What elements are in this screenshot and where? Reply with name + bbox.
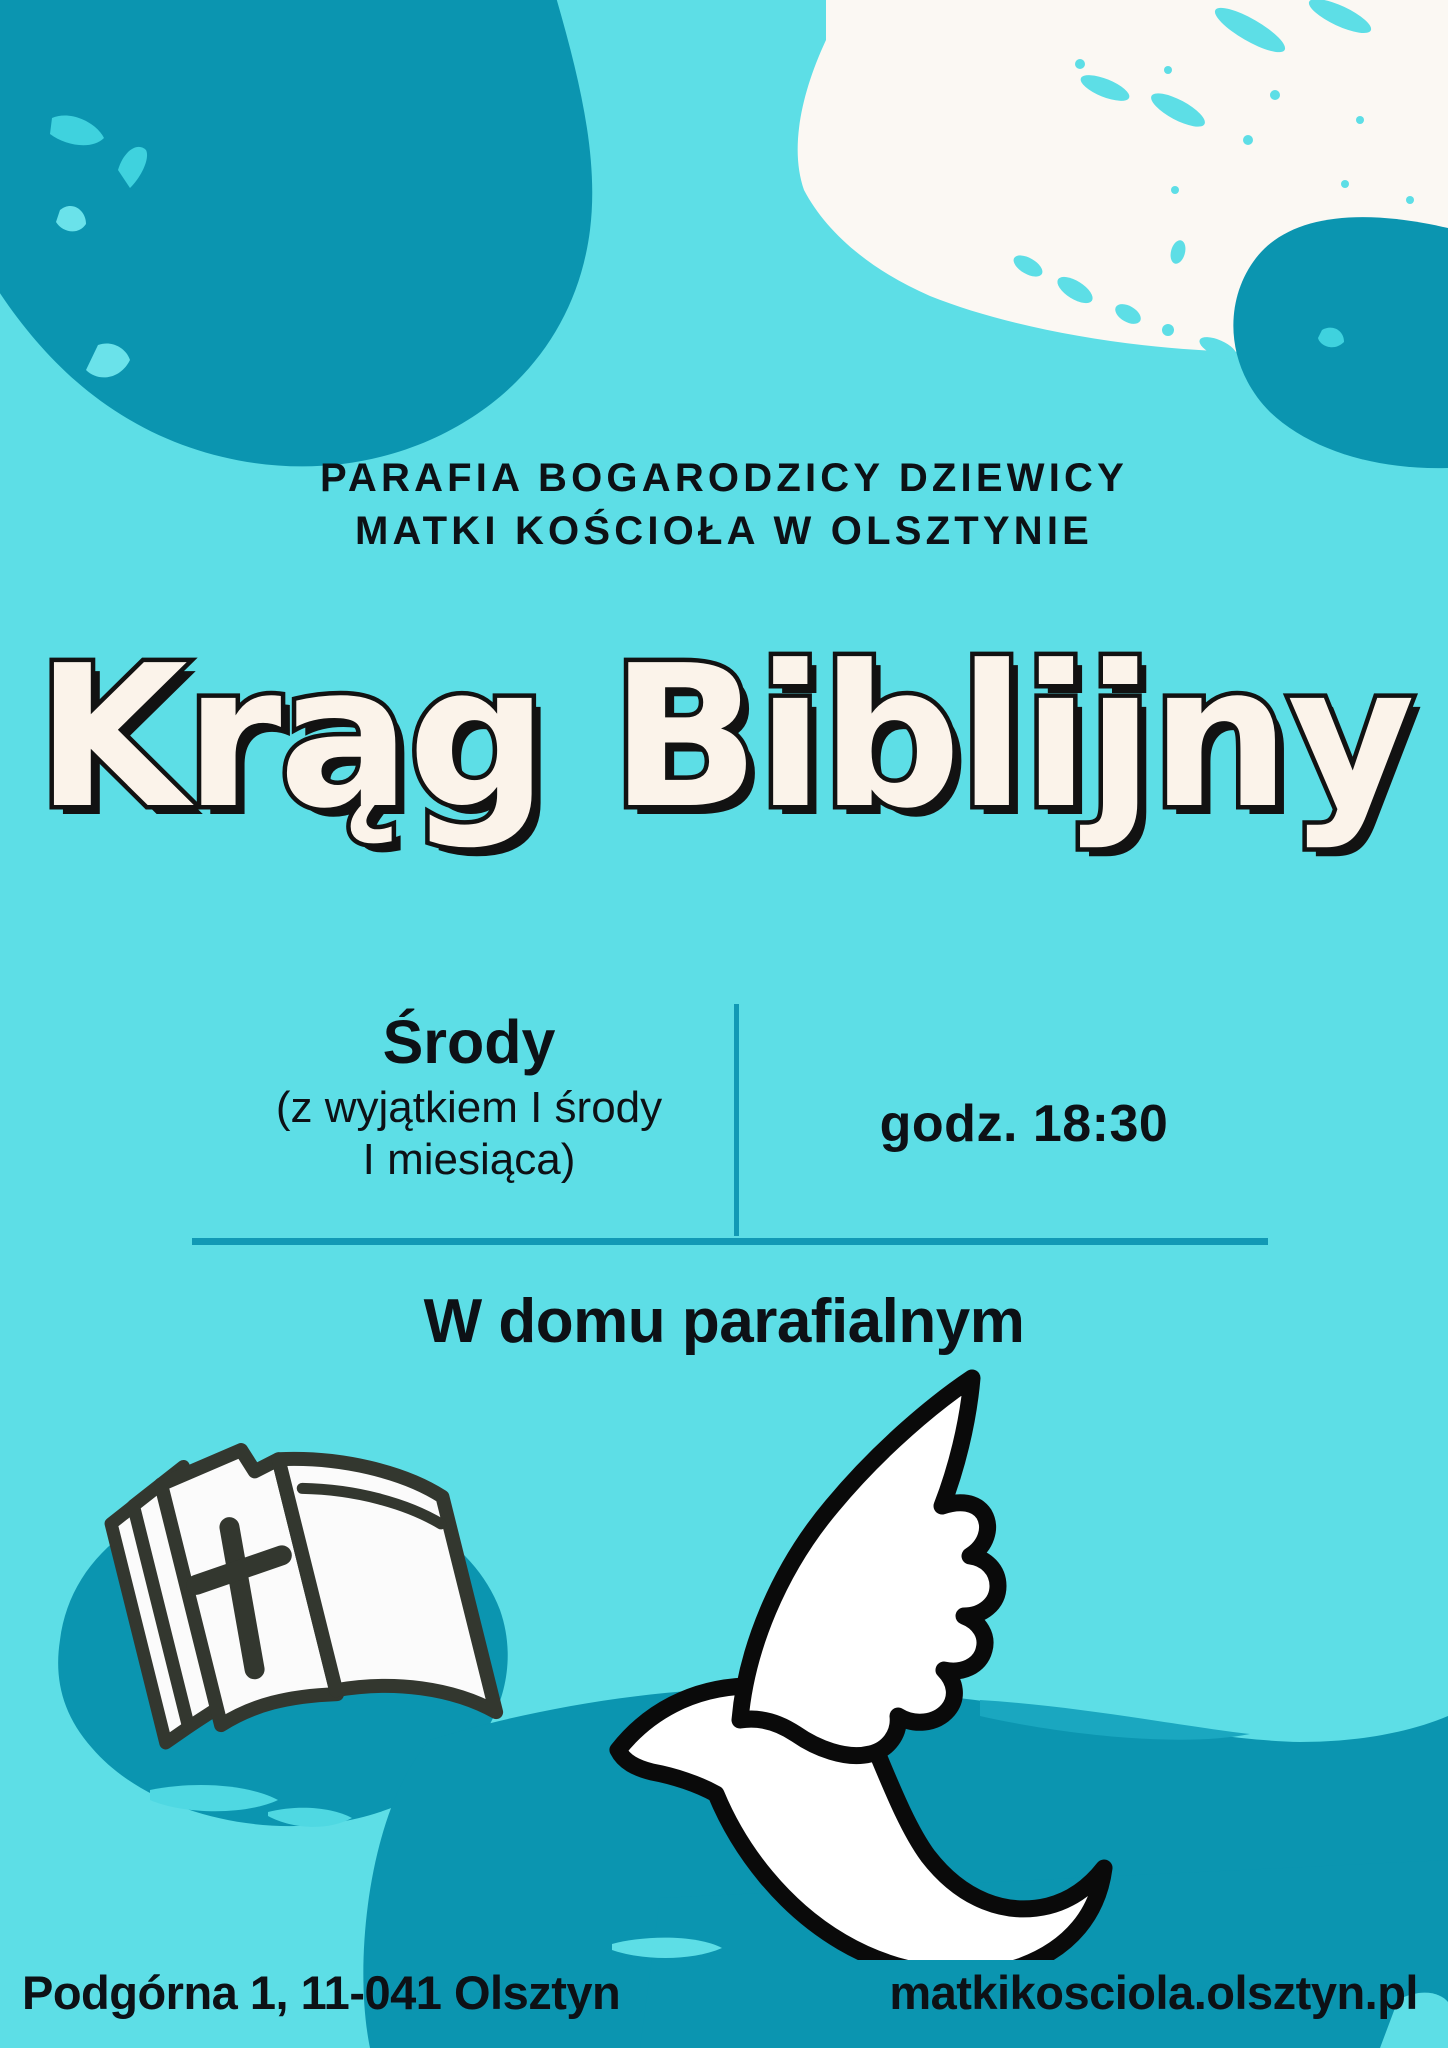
footer-website[interactable]: matkikosciola.olsztyn.pl [889,1965,1418,2020]
parish-line-1: PARAFIA BOGARODZICY DZIEWICY [0,452,1448,505]
title-container: Krąg Biblijny [0,640,1448,860]
schedule-block: Środy (z wyjątkiem I środy I miesiąca) g… [180,1010,1268,1260]
schedule-vertical-divider [734,1004,739,1236]
blob-top-right [1233,217,1448,468]
poster-root: PARAFIA BOGARODZICY DZIEWICY MATKI KOŚCI… [0,0,1448,2048]
footer-address: Podgórna 1, 11-041 Olsztyn [22,1965,620,2020]
schedule-day-column: Środy (z wyjątkiem I środy I miesiąca) [180,1010,758,1186]
schedule-time-column: godz. 18:30 [780,1094,1268,1154]
flying-dove-icon [570,1320,1130,1960]
schedule-day-note: (z wyjątkiem I środy I miesiąca) [180,1082,758,1186]
parish-header: PARAFIA BOGARODZICY DZIEWICY MATKI KOŚCI… [0,452,1448,558]
schedule-day-note-line-1: (z wyjątkiem I środy [180,1082,758,1134]
open-bible-with-cross-icon [40,1390,510,1790]
blob-top-left [0,0,592,466]
schedule-time: godz. 18:30 [780,1094,1268,1154]
page-title: Krąg Biblijny [36,640,1412,836]
schedule-day-note-line-2: I miesiąca) [180,1134,758,1186]
schedule-horizontal-divider [192,1238,1268,1245]
schedule-day: Środy [180,1010,758,1074]
parish-line-2: MATKI KOŚCIOŁA W OLSZTYNIE [0,505,1448,558]
brushstroke-top-right [798,0,1448,352]
